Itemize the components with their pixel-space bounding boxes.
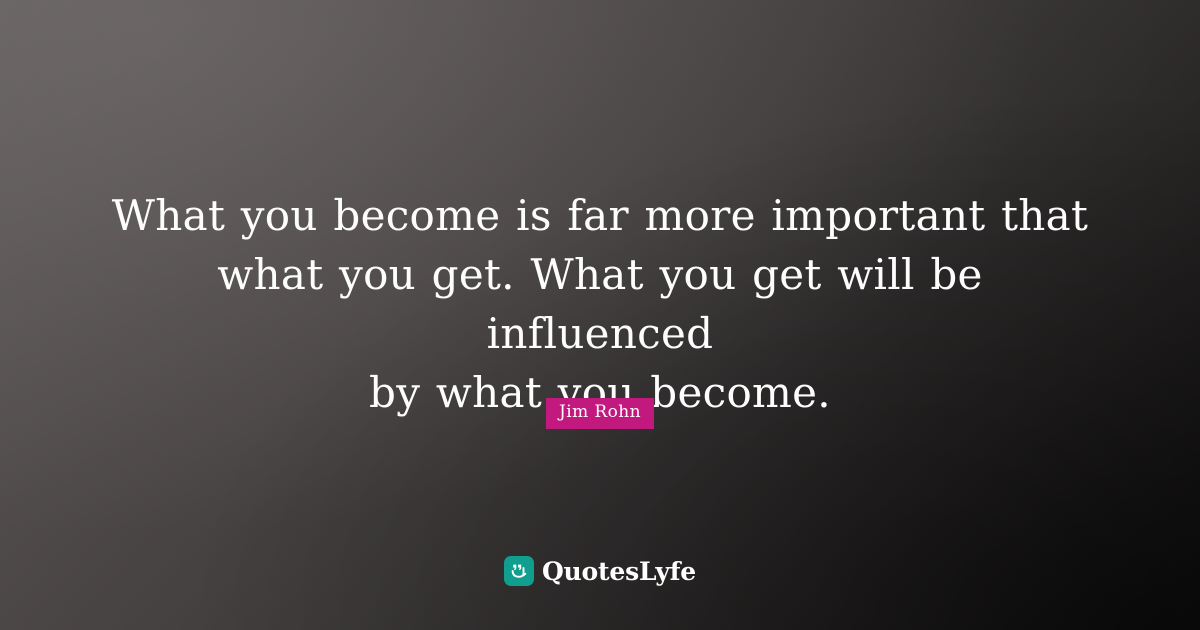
author-name-badge: Jim Rohn bbox=[546, 398, 654, 429]
brand-footer: QuotesLyfe bbox=[0, 556, 1200, 586]
quote-block: What you become is far more important th… bbox=[0, 186, 1200, 422]
quotation-mark-icon bbox=[504, 556, 534, 586]
quote-line-1: What you become is far more important th… bbox=[110, 186, 1090, 245]
brand-name: QuotesLyfe bbox=[542, 559, 696, 584]
quote-card: What you become is far more important th… bbox=[0, 0, 1200, 630]
author-attribution: Jim Rohn bbox=[0, 398, 1200, 429]
quote-line-2: what you get. What you get will be influ… bbox=[110, 245, 1090, 363]
